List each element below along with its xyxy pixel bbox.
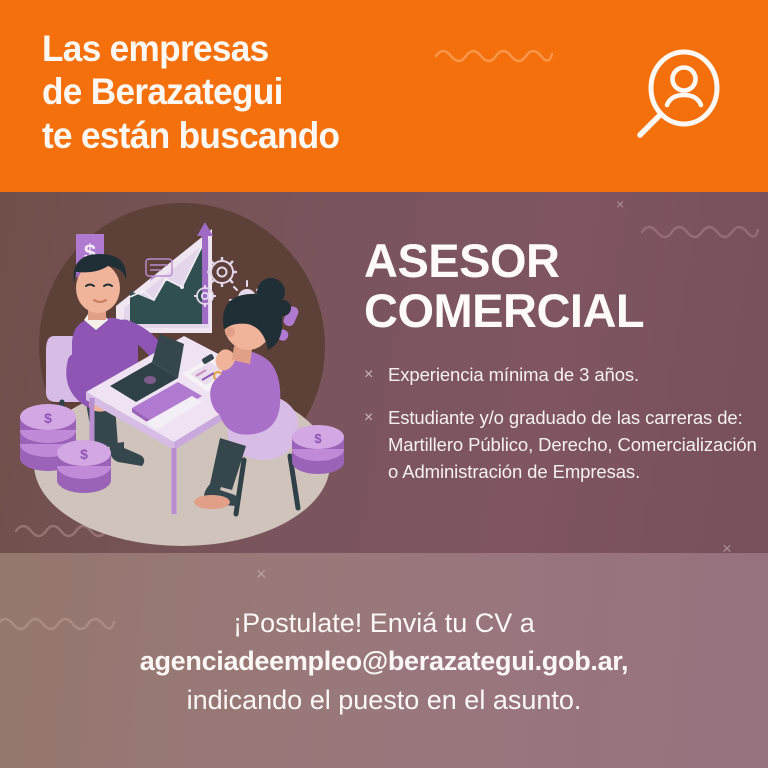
decorative-cross-icon: ×: [616, 197, 624, 211]
poster-footer: × ¡Postulate! Enviá tu CV a agenciadeemp…: [0, 553, 768, 768]
business-meeting-illustration: $: [6, 196, 356, 548]
cta-line-3: indicando el puesto en el asunto.: [0, 681, 768, 719]
bullet-cross-icon: ×: [364, 405, 388, 429]
poster-body: × ×: [0, 192, 768, 553]
call-to-action: ¡Postulate! Enviá tu CV a agenciadeemple…: [0, 604, 768, 719]
decorative-cross-icon: ×: [722, 540, 732, 553]
job-details: ASESOR COMERCIAL × Experiencia mínima de…: [364, 236, 760, 503]
cta-line-1: ¡Postulate! Enviá tu CV a: [0, 604, 768, 642]
requirement-item: × Experiencia mínima de 3 años.: [364, 362, 760, 389]
svg-text:$: $: [314, 431, 322, 446]
requirement-text: Experiencia mínima de 3 años.: [388, 362, 639, 389]
cta-email[interactable]: agenciadeempleo@berazategui.gob.ar,: [0, 642, 768, 680]
magnifier-person-icon: [628, 48, 722, 144]
requirement-item: × Estudiante y/o graduado de las carrera…: [364, 405, 760, 485]
bullet-cross-icon: ×: [364, 362, 388, 386]
svg-text:$: $: [80, 446, 88, 462]
poster-header: Las empresas de Berazategui te están bus…: [0, 0, 768, 192]
wave-line-icon: [434, 44, 554, 66]
header-title: Las empresas de Berazategui te están bus…: [42, 27, 339, 157]
job-poster: Las empresas de Berazategui te están bus…: [0, 0, 768, 768]
requirement-text: Estudiante y/o graduado de las carreras …: [388, 405, 760, 485]
svg-text:$: $: [44, 410, 52, 426]
decorative-cross-icon: ×: [256, 565, 267, 583]
requirements-list: × Experiencia mínima de 3 años. × Estudi…: [364, 362, 760, 486]
job-title: ASESOR COMERCIAL: [364, 236, 760, 336]
